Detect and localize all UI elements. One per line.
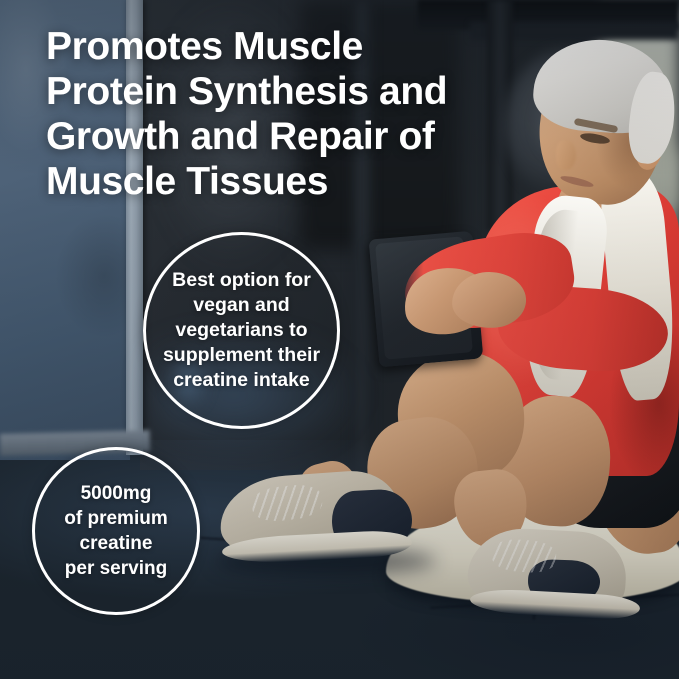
headline-line-2: Protein Synthesis and [46, 69, 476, 114]
headline: Promotes Muscle Protein Synthesis and Gr… [46, 24, 476, 204]
dosage-badge-line-2: of premium [64, 506, 167, 531]
dosage-badge-line-3: creatine [64, 531, 167, 556]
nose [556, 140, 576, 170]
dosage-badge-line-1: 5000mg [64, 481, 167, 506]
dosage-badge-text: 5000mg of premium creatine per serving [58, 481, 173, 581]
vegan-badge-line-4: supplement their [163, 343, 320, 368]
headline-line-4: Muscle Tissues [46, 159, 476, 204]
vegan-badge-line-3: vegetarians to [163, 318, 320, 343]
vegan-badge-text: Best option for vegan and vegetarians to… [157, 268, 326, 393]
vegan-badge-line-2: vegan and [163, 293, 320, 318]
dosage-badge-line-4: per serving [64, 556, 167, 581]
vegan-badge: Best option for vegan and vegetarians to… [143, 232, 340, 429]
vegan-badge-line-1: Best option for [163, 268, 320, 293]
headline-line-1: Promotes Muscle [46, 24, 476, 69]
dosage-badge: 5000mg of premium creatine per serving [32, 447, 200, 615]
product-infographic: Promotes Muscle Protein Synthesis and Gr… [0, 0, 679, 679]
vegan-badge-line-5: creatine intake [163, 368, 320, 393]
headline-line-3: Growth and Repair of [46, 114, 476, 159]
